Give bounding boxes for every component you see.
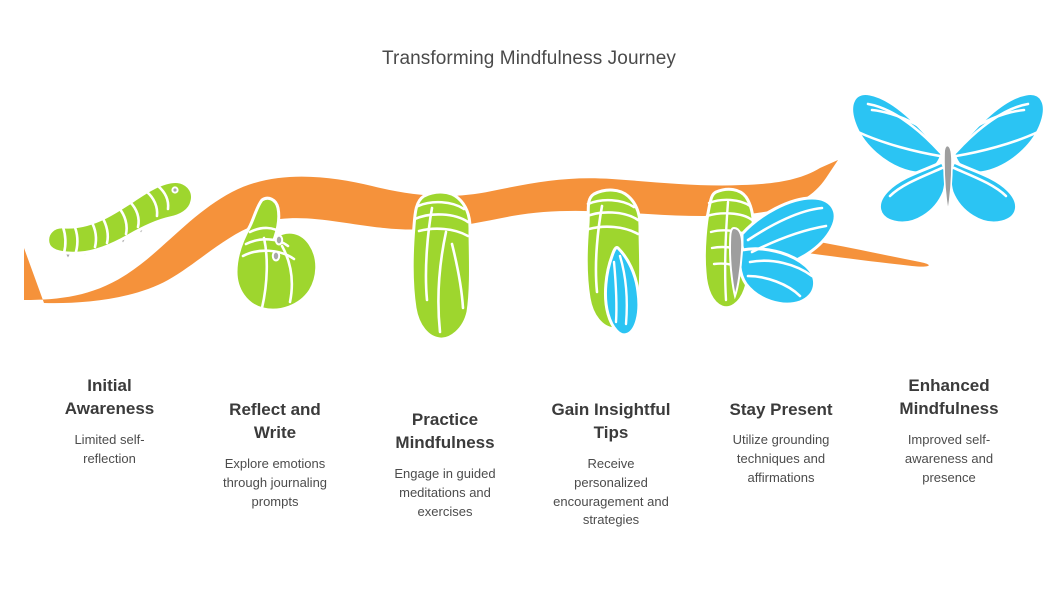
infographic-canvas: Transforming Mindfulness Journey <box>0 0 1058 590</box>
chrysalis-with-wing-icon <box>585 190 641 335</box>
stage-description-line: exercises <box>418 504 473 519</box>
stage-description-line: techniques and <box>737 451 825 466</box>
stage-heading-line: Mindfulness <box>899 399 998 418</box>
stage-description-line: presence <box>922 470 975 485</box>
stage-description-line: prompts <box>252 494 299 509</box>
stage-heading-line: Mindfulness <box>395 433 494 452</box>
stage-description: Engage in guided meditations and exercis… <box>366 465 524 522</box>
stage-heading-line: Awareness <box>65 399 154 418</box>
stage-description-line: Engage in guided <box>394 466 495 481</box>
metamorphosis-illustration <box>0 0 1058 370</box>
stage-caption-practice-mindfulness: Practice Mindfulness Engage in guided me… <box>366 408 524 521</box>
stage-heading: Initial Awareness <box>32 374 187 421</box>
stage-caption-enhanced-mindfulness: Enhanced Mindfulness Improved self- awar… <box>870 374 1028 487</box>
stage-caption-initial-awareness: Initial Awareness Limited self- reflecti… <box>32 374 187 469</box>
stage-description-line: Utilize grounding <box>733 432 830 447</box>
stage-description-line: awareness and <box>905 451 993 466</box>
stage-description-line: meditations and <box>399 485 491 500</box>
stage-heading-line: Tips <box>594 423 629 442</box>
stage-heading-line: Stay Present <box>730 400 833 419</box>
stage-description: Limited self- reflection <box>32 431 187 469</box>
stage-description-line: through journaling <box>223 475 327 490</box>
stage-caption-gain-insightful-tips: Gain Insightful Tips Receive personalize… <box>532 398 690 530</box>
butterfly-icon <box>852 94 1045 223</box>
stage-heading: Stay Present <box>702 398 860 421</box>
stage-description-line: Improved self- <box>908 432 990 447</box>
stage-description-line: encouragement and <box>553 494 669 509</box>
stage-description: Receive personalized encouragement and s… <box>532 455 690 530</box>
stage-description: Improved self- awareness and presence <box>870 431 1028 488</box>
stage-caption-stay-present: Stay Present Utilize grounding technique… <box>702 398 860 488</box>
stage-description: Explore emotions through journaling prom… <box>196 455 354 512</box>
stage-description-line: strategies <box>583 512 639 527</box>
stage-heading-line: Enhanced <box>908 376 989 395</box>
stage-description-line: affirmations <box>748 470 815 485</box>
stage-description-line: Receive <box>588 456 635 471</box>
stage-description-line: Explore emotions <box>225 456 325 471</box>
stage-heading-line: Reflect and <box>229 400 321 419</box>
stage-heading-line: Write <box>254 423 296 442</box>
stage-description: Utilize grounding techniques and affirma… <box>702 431 860 488</box>
stage-heading-line: Practice <box>412 410 478 429</box>
chrysalis-icon <box>412 192 470 339</box>
stage-heading: Reflect and Write <box>196 398 354 445</box>
stage-heading-line: Initial <box>87 376 131 395</box>
stage-heading: Enhanced Mindfulness <box>870 374 1028 421</box>
stage-heading: Gain Insightful Tips <box>532 398 690 445</box>
stage-description-line: personalized <box>574 475 648 490</box>
stage-description-line: reflection <box>83 451 136 466</box>
stage-caption-reflect-and-write: Reflect and Write Explore emotions throu… <box>196 398 354 511</box>
stage-heading-line: Gain Insightful <box>552 400 671 419</box>
stage-description-line: Limited self- <box>74 432 144 447</box>
stage-heading: Practice Mindfulness <box>366 408 524 455</box>
